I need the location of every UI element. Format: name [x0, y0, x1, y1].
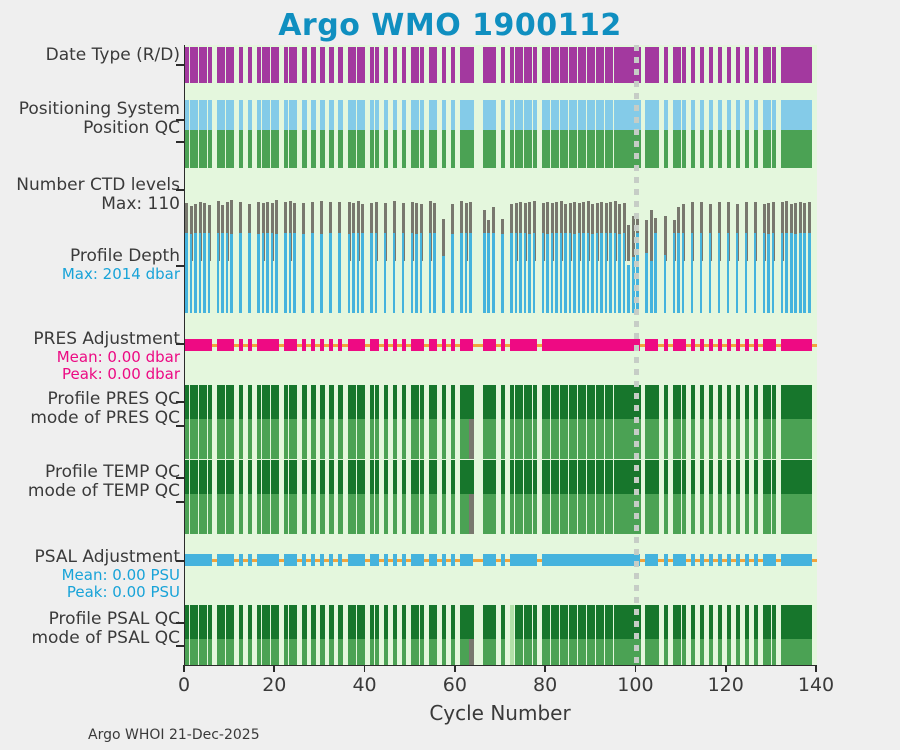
band-mode-temp-qc-cell: [420, 494, 424, 534]
band-pres-adjustment-block: [311, 339, 315, 351]
band-mode-temp-qc-cell: [682, 494, 686, 534]
band-position-qc-cell: [239, 130, 243, 168]
row-label-ctd-levels: Number CTD levels Max: 110: [0, 176, 180, 214]
band-mode-temp-qc-cell: [329, 494, 333, 534]
band-profile-pres-qc-cell: [451, 385, 455, 419]
bar-profile-depth: [600, 233, 603, 313]
band-psal-adjustment-block: [284, 554, 297, 566]
band-profile-temp-qc-cell: [338, 460, 342, 494]
bar-profile-depth: [199, 233, 202, 313]
band-psal-adjustment-block: [542, 554, 641, 566]
y-tick-psal-adjustment: [176, 560, 184, 562]
band-profile-pres-qc-cell: [664, 385, 668, 419]
bar-profile-depth: [546, 234, 549, 313]
bar-profile-depth: [429, 233, 432, 313]
row-label-profile-depth-max: Max: 2014 dbar: [0, 266, 180, 283]
band-mode-temp-qc-cell: [533, 494, 537, 534]
band-profile-psal-qc-cell: [393, 605, 397, 639]
band-profile-pres-qc-cell: [492, 385, 496, 419]
band-position-qc-cell: [393, 130, 397, 168]
bar-profile-depth: [754, 233, 757, 313]
band-profile-psal-qc-cell: [320, 605, 324, 639]
band-mode-temp-qc: [185, 494, 817, 534]
band-position-qc-cell: [682, 130, 686, 168]
row-label-positioning-text: Positioning System: [0, 100, 180, 119]
band-psal-adjustment-block: [185, 554, 212, 566]
band-mode-temp-qc-cell: [808, 494, 812, 534]
bar-profile-depth: [533, 233, 536, 313]
bar-profile-depth: [618, 234, 621, 313]
band-mode-temp-qc-cell: [402, 494, 406, 534]
band-profile-temp-qc: [185, 460, 817, 494]
band-mode-temp-qc-cell: [320, 494, 324, 534]
band-mode-pres-qc: [185, 419, 817, 459]
x-tick-label-0: 0: [154, 674, 214, 696]
band-psal-adjustment-block: [510, 554, 537, 566]
plot-canvas: [185, 45, 817, 665]
band-positioning-system-cell: [239, 100, 243, 130]
row-label-date-type: Date Type (R/D): [0, 46, 180, 65]
band-pres-adjustment-block: [302, 339, 306, 351]
band-position-qc-cell: [745, 130, 749, 168]
bar-profile-depth: [483, 233, 486, 313]
band-pres-adjustment-block: [718, 339, 722, 351]
band-mode-temp-qc-cell: [361, 494, 365, 534]
band-positioning-system: [185, 100, 817, 130]
band-mode-pres-qc-cell: [384, 419, 388, 459]
band-psal-adjustment-block: [700, 554, 704, 566]
band-pres-adjustment-block: [510, 339, 537, 351]
band-pres-adjustment-block: [763, 339, 776, 351]
bar-profile-depth: [799, 233, 802, 313]
bar-profile-depth: [352, 233, 355, 313]
band-position-qc-cell: [375, 130, 379, 168]
band-profile-psal-qc-cell: [736, 605, 740, 639]
band-date-type-cell: [320, 47, 324, 83]
band-mode-temp-qc-cell: [654, 494, 658, 534]
band-profile-temp-qc-cell: [208, 460, 212, 494]
band-date-type-cell: [654, 47, 658, 83]
band-psal-adjustment-block: [718, 554, 722, 566]
band-profile-pres-qc-cell: [700, 385, 704, 419]
band-profile-psal-qc-cell: [727, 605, 731, 639]
bar-profile-depth: [673, 233, 676, 313]
bar-profile-depth: [709, 233, 712, 313]
band-position-qc-cell: [275, 130, 279, 168]
band-mode-pres-qc-cell: [501, 419, 505, 459]
page-title: Argo WMO 1900112: [0, 8, 900, 43]
band-psal-adjustment-block: [320, 554, 324, 566]
band-profile-pres-qc-cell: [736, 385, 740, 419]
band-mode-temp-qc-cell: [208, 494, 212, 534]
band-profile-pres-qc-cell: [709, 385, 713, 419]
band-position-qc-cell: [384, 130, 388, 168]
band-profile-temp-qc-cell: [384, 460, 388, 494]
bar-profile-depth: [221, 233, 224, 313]
bar-profile-depth: [415, 234, 418, 313]
band-profile-temp-qc-cell: [302, 460, 306, 494]
band-pres-adjustment-block: [185, 339, 212, 351]
band-mode-temp-qc-cell: [745, 494, 749, 534]
bar-profile-depth: [384, 233, 387, 313]
band-position-qc-cell: [402, 130, 406, 168]
band-psal-adjustment-block: [727, 554, 731, 566]
band-position-qc-cell: [469, 130, 473, 168]
band-profile-psal-qc-cell: [248, 605, 252, 639]
y-tick-ctd-levels: [176, 189, 184, 191]
band-mode-pres-qc-cell: [808, 419, 812, 459]
band-psal-adjustment-block: [451, 554, 455, 566]
y-tick-date-type: [176, 64, 184, 66]
bar-profile-depth: [320, 234, 323, 313]
band-mode-temp-qc-cell: [469, 494, 473, 534]
band-pres-adjustment-block: [370, 339, 379, 351]
band-psal-adjustment-block: [442, 554, 446, 566]
band-mode-pres-qc-cell: [691, 419, 695, 459]
bar-profile-depth: [767, 234, 770, 313]
row-label-psal-adjustment-peak: Peak: 0.00 PSU: [0, 584, 180, 601]
band-mode-temp-qc-cell: [275, 494, 279, 534]
band-positioning-system-cell: [384, 100, 388, 130]
band-position-qc-cell: [808, 130, 812, 168]
band-pres-adjustment-block: [483, 339, 496, 351]
bar-profile-depth: [524, 233, 527, 313]
band-mode-temp-qc-cell: [492, 494, 496, 534]
band-mode-pres-qc-cell: [682, 419, 686, 459]
bar-profile-depth: [411, 233, 414, 313]
band-positioning-system-cell: [302, 100, 306, 130]
band-profile-pres-qc-cell: [808, 385, 812, 419]
band-mode-pres-qc-cell: [239, 419, 243, 459]
band-mode-psal-qc-cell: [275, 639, 279, 665]
band-profile-pres-qc-cell: [329, 385, 333, 419]
band-profile-temp-qc-cell: [329, 460, 333, 494]
band-psal-adjustment: [185, 550, 817, 570]
band-profile-pres-qc-cell: [654, 385, 658, 419]
bar-profile-depth: [650, 261, 653, 313]
band-date-type-cell: [329, 47, 333, 83]
band-positioning-system-cell: [727, 100, 731, 130]
band-position-qc-cell: [727, 130, 731, 168]
bar-profile-depth: [645, 253, 648, 313]
band-mode-psal-qc-cell: [384, 639, 388, 665]
band-psal-adjustment-block: [501, 554, 505, 566]
row-label-profile-psal-qc-text: Profile PSAL QC: [0, 610, 180, 629]
band-position-qc-cell: [664, 130, 668, 168]
band-profile-pres-qc-cell: [384, 385, 388, 419]
bar-profile-depth: [370, 233, 373, 313]
bar-profile-depth: [718, 233, 721, 313]
band-mode-pres-qc-cell: [420, 419, 424, 459]
band-positioning-system-cell: [208, 100, 212, 130]
bar-profile-depth: [492, 233, 495, 313]
band-positioning-system-cell: [808, 100, 812, 130]
x-tick-label-20: 20: [244, 674, 304, 696]
band-mode-temp-qc-cell: [239, 494, 243, 534]
bar-profile-depth: [569, 233, 572, 313]
band-pres-adjustment-block: [451, 339, 455, 351]
band-position-qc-cell: [230, 130, 234, 168]
band-date-type-cell: [736, 47, 740, 83]
band-pres-adjustment-block: [673, 339, 686, 351]
band-position-qc-cell: [451, 130, 455, 168]
bar-profile-depth: [510, 233, 513, 313]
band-psal-adjustment-block: [393, 554, 397, 566]
band-positioning-system-cell: [230, 100, 234, 130]
bar-profile-depth: [433, 233, 436, 313]
band-profile-pres-qc-cell: [239, 385, 243, 419]
band-psal-adjustment-block: [411, 554, 424, 566]
band-psal-adjustment-block: [754, 554, 758, 566]
band-date-type-cell: [208, 47, 212, 83]
bar-profile-depth: [691, 233, 694, 313]
band-mode-pres-qc-cell: [664, 419, 668, 459]
band-profile-psal-qc-cell: [433, 605, 437, 639]
bar-profile-depth: [745, 233, 748, 313]
band-psal-adjustment-block: [483, 554, 496, 566]
band-mode-psal-qc-cell: [239, 639, 243, 665]
x-tick-80: [544, 665, 546, 672]
band-mode-pres-qc-cell: [718, 419, 722, 459]
band-profile-psal-qc-cell: [420, 605, 424, 639]
band-pres-adjustment-block: [384, 339, 388, 351]
band-psal-adjustment-block: [691, 554, 695, 566]
band-profile-temp-qc-cell: [745, 460, 749, 494]
band-date-type-cell: [808, 47, 812, 83]
band-pres-adjustment-block: [781, 339, 812, 351]
bar-profile-depth: [302, 234, 305, 313]
band-position-qc-cell: [208, 130, 212, 168]
reference-line-cycle-100: [634, 45, 639, 665]
band-profile-temp-qc-cell: [361, 460, 365, 494]
band-profile-temp-qc-cell: [433, 460, 437, 494]
band-position-qc-cell: [293, 130, 297, 168]
band-profile-psal-qc-cell: [772, 605, 776, 639]
band-date-type-cell: [420, 47, 424, 83]
band-positioning-system-cell: [492, 100, 496, 130]
band-profile-temp-qc-cell: [293, 460, 297, 494]
bar-profile-depth: [348, 234, 351, 313]
band-mode-pres-qc-cell: [375, 419, 379, 459]
band-profile-psal-qc-cell: [533, 605, 537, 639]
band-mode-temp-qc-cell: [501, 494, 505, 534]
band-profile-psal-qc-cell: [501, 605, 505, 639]
row-label-profile-pres-qc-text: Profile PRES QC: [0, 390, 180, 409]
band-pres-adjustment-block: [329, 339, 333, 351]
band-date-type-cell: [361, 47, 365, 83]
bar-profile-depth: [329, 233, 332, 313]
band-profile-psal-qc: [185, 605, 817, 639]
band-position-qc-cell: [718, 130, 722, 168]
bar-profile-depth: [451, 234, 454, 313]
bar-profile-depth: [551, 233, 554, 313]
band-positioning-system-cell: [433, 100, 437, 130]
band-profile-pres-qc-cell: [393, 385, 397, 419]
bar-profile-depth: [293, 233, 296, 313]
row-label-pres-adjustment: PRES Adjustment Mean: 0.00 dbar Peak: 0.…: [0, 330, 180, 383]
band-mode-psal-qc-cell: [248, 639, 252, 665]
bar-profile-depth: [402, 233, 405, 313]
x-tick-label-40: 40: [335, 674, 395, 696]
band-positioning-system-cell: [442, 100, 446, 130]
band-position-qc-cell: [442, 130, 446, 168]
band-psal-adjustment-block: [302, 554, 306, 566]
band-mode-psal-qc-cell: [808, 639, 812, 665]
band-profile-depth: [185, 233, 817, 313]
bar-profile-depth: [785, 233, 788, 313]
band-pres-adjustment-block: [257, 339, 279, 351]
band-position-qc-cell: [533, 130, 537, 168]
band-mode-psal-qc-cell: [492, 639, 496, 665]
bar-profile-depth: [248, 233, 251, 313]
bar-profile-depth: [803, 233, 806, 313]
band-mode-pres-qc-cell: [361, 419, 365, 459]
band-profile-psal-qc-cell: [384, 605, 388, 639]
band-profile-pres-qc-cell: [275, 385, 279, 419]
x-tick-0: [183, 665, 185, 672]
band-profile-temp-qc-cell: [709, 460, 713, 494]
band-position-qc-cell: [338, 130, 342, 168]
band-pres-adjustment-block: [460, 339, 473, 351]
band-position-qc-cell: [302, 130, 306, 168]
band-mode-psal-qc-cell: [533, 639, 537, 665]
band-mode-temp-qc-cell: [302, 494, 306, 534]
band-profile-temp-qc-cell: [320, 460, 324, 494]
band-profile-pres-qc-cell: [501, 385, 505, 419]
band-mode-pres-qc-cell: [208, 419, 212, 459]
bar-profile-depth: [185, 233, 188, 313]
band-mode-psal-qc-cell: [329, 639, 333, 665]
band-mode-psal-qc-cell: [754, 639, 758, 665]
band-profile-psal-qc-cell: [451, 605, 455, 639]
band-date-type-cell: [772, 47, 776, 83]
bar-profile-depth: [794, 234, 797, 313]
band-mode-pres-qc-cell: [311, 419, 315, 459]
band-profile-temp-qc-cell: [375, 460, 379, 494]
band-positioning-system-cell: [375, 100, 379, 130]
band-profile-temp-qc-cell: [442, 460, 446, 494]
band-mode-temp-qc-cell: [293, 494, 297, 534]
band-date-type-cell: [402, 47, 406, 83]
row-label-ctd-levels-max: Max: 110: [0, 195, 180, 214]
bar-profile-depth: [266, 233, 269, 313]
row-label-mode-psal-qc-text: mode of PSAL QC: [0, 629, 180, 648]
bar-profile-depth: [203, 233, 206, 313]
y-tick-pres-adjustment: [176, 343, 184, 345]
band-mode-psal-qc-cell: [302, 639, 306, 665]
band-mode-psal-qc-cell: [718, 639, 722, 665]
bar-profile-depth: [772, 233, 775, 313]
band-positioning-system-cell: [361, 100, 365, 130]
band-psal-adjustment-block: [239, 554, 243, 566]
band-position-qc-cell: [654, 130, 658, 168]
band-mode-psal-qc-cell: [709, 639, 713, 665]
band-psal-adjustment-block: [348, 554, 366, 566]
bar-profile-depth: [763, 233, 766, 313]
band-profile-psal-qc-cell: [208, 605, 212, 639]
band-psal-adjustment-block: [257, 554, 279, 566]
bar-profile-depth: [609, 233, 612, 313]
band-profile-psal-qc-cell: [338, 605, 342, 639]
bar-profile-depth: [627, 265, 630, 313]
band-profile-pres-qc-cell: [442, 385, 446, 419]
band-date-type-cell: [664, 47, 668, 83]
band-mode-psal-qc-cell: [469, 639, 473, 665]
band-mode-temp-qc-cell: [375, 494, 379, 534]
bar-profile-depth: [257, 234, 260, 313]
band-profile-psal-qc-cell: [329, 605, 333, 639]
band-date-type-cell: [754, 47, 758, 83]
band-mode-psal-qc-cell: [208, 639, 212, 665]
band-profile-pres-qc-cell: [338, 385, 342, 419]
band-pres-adjustment-block: [320, 339, 324, 351]
band-profile-pres-qc-cell: [420, 385, 424, 419]
band-mode-pres-qc-cell: [469, 419, 473, 459]
band-pres-adjustment-block: [338, 339, 342, 351]
bar-profile-depth: [271, 233, 274, 313]
bar-profile-depth: [682, 233, 685, 313]
band-positioning-system-cell: [329, 100, 333, 130]
band-date-type-cell: [275, 47, 279, 83]
bar-profile-depth: [217, 233, 220, 313]
band-mode-pres-qc-cell: [492, 419, 496, 459]
band-mode-psal-qc-cell: [320, 639, 324, 665]
band-mode-pres-qc-cell: [393, 419, 397, 459]
band-profile-pres-qc-cell: [402, 385, 406, 419]
bar-profile-depth: [790, 233, 793, 313]
band-mode-pres-qc-cell: [433, 419, 437, 459]
band-mode-temp-qc-cell: [311, 494, 315, 534]
band-psal-adjustment-block: [673, 554, 686, 566]
band-profile-psal-qc-cell: [682, 605, 686, 639]
band-date-type-cell: [384, 47, 388, 83]
x-tick-40: [364, 665, 366, 672]
band-mode-pres-qc-cell: [302, 419, 306, 459]
band-mode-psal-qc-cell: [393, 639, 397, 665]
band-mode-pres-qc-cell: [654, 419, 658, 459]
band-profile-pres-qc-cell: [433, 385, 437, 419]
band-psal-adjustment-block: [763, 554, 776, 566]
band-mode-temp-qc-cell: [709, 494, 713, 534]
x-tick-60: [454, 665, 456, 672]
band-pres-adjustment: [185, 335, 817, 355]
band-position-qc-cell: [709, 130, 713, 168]
band-mode-psal-qc: [185, 639, 817, 665]
band-pres-adjustment-block: [217, 339, 235, 351]
band-profile-pres-qc-cell: [361, 385, 365, 419]
band-mode-temp-qc-cell: [384, 494, 388, 534]
row-label-pres-adjustment-text: PRES Adjustment: [0, 330, 180, 349]
x-axis-title: Cycle Number: [184, 701, 816, 725]
band-position-qc-cell: [248, 130, 252, 168]
band-mode-psal-qc-cell: [682, 639, 686, 665]
bar-profile-depth: [781, 233, 784, 313]
plot-area: [184, 45, 817, 666]
band-profile-temp-qc-cell: [492, 460, 496, 494]
band-profile-temp-qc-cell: [239, 460, 243, 494]
band-position-qc-cell: [420, 130, 424, 168]
band-profile-psal-qc-cell: [239, 605, 243, 639]
band-psal-adjustment-block: [429, 554, 438, 566]
band-mode-temp-qc-cell: [772, 494, 776, 534]
band-mode-psal-qc-cell: [230, 639, 234, 665]
band-date-type-cell: [727, 47, 731, 83]
bar-profile-depth: [226, 233, 229, 313]
band-position-qc-cell: [311, 130, 315, 168]
band-position-qc-cell: [361, 130, 365, 168]
band-positioning-system-cell: [736, 100, 740, 130]
band-profile-temp-qc-cell: [691, 460, 695, 494]
